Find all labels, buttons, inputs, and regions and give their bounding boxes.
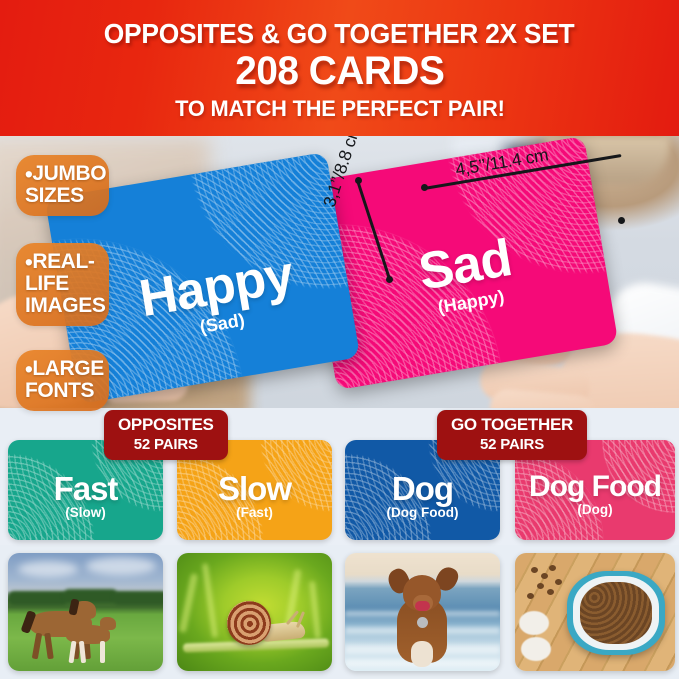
snail-photo [177,553,332,671]
product-infographic: Sad (Happy) Happy (Sad) 4,5’’/11.4 cm 3,… [0,0,679,679]
word-card-word: Dog Food [529,472,661,502]
dog-food-photo [515,553,675,671]
banner-opposites: OPPOSITES 52 PAIRS [104,410,228,460]
badge-line2: SIZES [25,184,84,207]
photo-card-horses [8,553,163,671]
banner-title: GO TOGETHER [451,416,573,435]
header-banner: OPPOSITES & GO TOGETHER 2X SET 208 CARDS… [0,0,679,136]
word-card-word: Dog [387,472,459,505]
photo-card-snail [177,553,332,671]
dog-beach-photo [345,553,500,671]
word-card-pair: (Dog) [529,502,661,517]
badge-line2: FONTS [25,379,94,402]
word-card-word: Fast [54,472,118,505]
banner-subtitle: 52 PAIRS [451,436,573,453]
badge-line1: LARGE [32,357,104,380]
feature-badge-jumbo-sizes: •JUMBO SIZES [16,155,109,216]
badge-line2: LIFE [25,272,69,295]
photo-card-dog-food [515,553,675,671]
height-endpoint-dot [355,177,362,184]
paw [521,637,551,661]
horse-photo [8,553,163,671]
photo-card-dog [345,553,500,671]
width-endpoint-dot [618,217,625,224]
badge-line3: IMAGES [25,294,105,317]
header-line-1: OPPOSITES & GO TOGETHER 2X SET [104,18,575,50]
banner-title: OPPOSITES [118,416,214,435]
height-endpoint-dot [386,276,393,283]
badge-line1: REAL- [32,250,94,273]
word-card-pair: (Fast) [218,505,291,520]
width-endpoint-dot [421,184,428,191]
badge-line1: JUMBO [32,162,106,185]
snail-shell [227,601,271,645]
banner-subtitle: 52 PAIRS [118,436,214,453]
word-card-pair: (Dog Food) [387,505,459,520]
paw [519,611,549,635]
kibble [580,582,652,644]
word-card-word: Slow [218,472,291,505]
banner-go-together: GO TOGETHER 52 PAIRS [437,410,587,460]
header-line-3: TO MATCH THE PERFECT PAIR! [175,96,505,122]
word-card-pair: (Slow) [54,505,118,520]
header-line-2: 208 CARDS [235,51,444,93]
feature-badge-large-fonts: •LARGE FONTS [16,350,109,411]
feature-badge-real-life-images: •REAL- LIFE IMAGES [16,243,109,326]
